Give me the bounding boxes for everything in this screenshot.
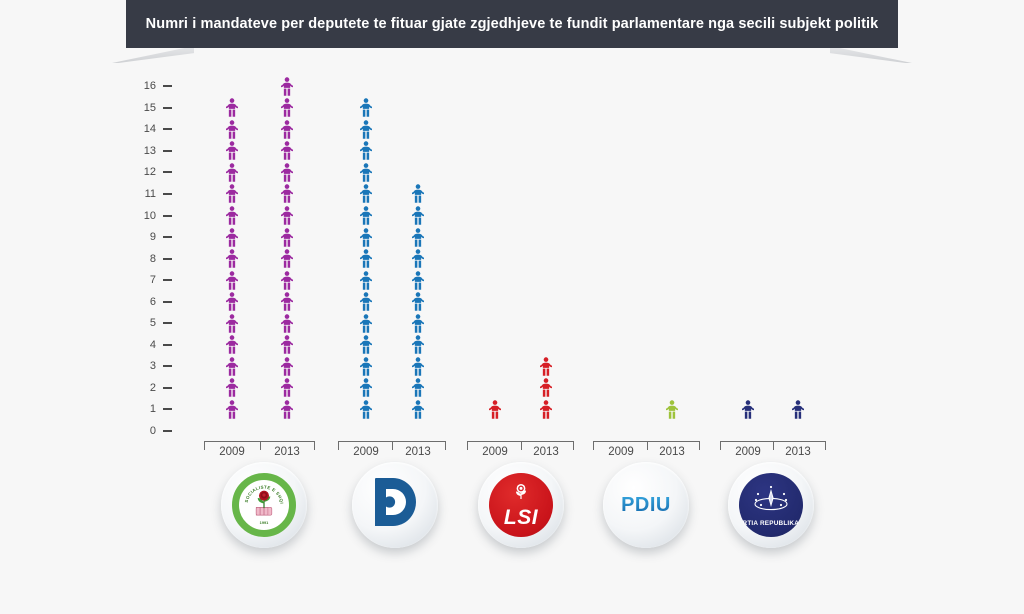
y-axis-label: 4 <box>116 339 156 351</box>
figure-column <box>785 0 811 460</box>
y-axis-tick-row: 6 <box>0 296 190 308</box>
person-pictogram <box>358 271 374 290</box>
person-pictogram <box>664 400 680 419</box>
y-axis-tick-row: 10 <box>0 210 190 222</box>
bracket-year-label: 2009 <box>595 446 647 458</box>
figure-column <box>405 0 431 460</box>
year-bracket: 20092013 <box>204 441 315 463</box>
ps-rose-fist-icon: PARTIA SOCIALISTE E SHQIPERISE1991 <box>232 473 296 537</box>
y-axis-label: 0 <box>116 425 156 437</box>
person-pictogram <box>279 400 295 419</box>
y-axis-tick-row: 11 <box>0 188 190 200</box>
person-pictogram <box>538 400 554 419</box>
y-axis-label: 7 <box>116 274 156 286</box>
infographic-stage: Numri i mandateve per deputete te fituar… <box>0 0 1024 614</box>
y-axis-tick <box>163 85 172 87</box>
bracket-year-label: 2009 <box>469 446 521 458</box>
party-logo-pr[interactable]: PARTIA REPUBLIKANE <box>728 462 814 548</box>
y-axis-tick <box>163 301 172 303</box>
pd-monogram-icon <box>369 474 421 537</box>
logo-inner: PARTIA SOCIALISTE E SHQIPERISE1991 <box>231 472 297 538</box>
figure-column <box>608 0 634 460</box>
person-pictogram <box>279 314 295 333</box>
svg-text:1991: 1991 <box>260 520 269 525</box>
person-pictogram <box>224 184 240 203</box>
y-axis-tick <box>163 365 172 367</box>
person-pictogram <box>224 98 240 117</box>
person-pictogram <box>358 249 374 268</box>
person-pictogram <box>410 184 426 203</box>
person-pictogram <box>224 120 240 139</box>
bracket-tick <box>338 441 339 450</box>
figure-column <box>353 0 379 460</box>
person-pictogram <box>358 141 374 160</box>
person-pictogram <box>224 292 240 311</box>
bracket-tick <box>720 441 721 450</box>
person-pictogram <box>224 314 240 333</box>
y-axis-tick <box>163 128 172 130</box>
person-pictogram <box>410 249 426 268</box>
bracket-year-label: 2009 <box>722 446 774 458</box>
figure-column <box>735 0 761 460</box>
person-pictogram <box>279 184 295 203</box>
logo-inner: PARTIA REPUBLIKANE <box>738 472 804 538</box>
y-axis-tick-row: 2 <box>0 382 190 394</box>
person-pictogram <box>410 206 426 225</box>
person-pictogram <box>410 292 426 311</box>
person-pictogram <box>279 378 295 397</box>
pr-text: PARTIA REPUBLIKANE <box>738 520 804 527</box>
figure-column <box>659 0 685 460</box>
bracket-tick <box>467 441 468 450</box>
person-pictogram <box>410 357 426 376</box>
person-pictogram <box>224 271 240 290</box>
bracket-year-label: 2013 <box>261 446 313 458</box>
bracket-tick <box>699 441 700 450</box>
lsi-rose-icon: LSI <box>489 473 553 537</box>
y-axis-label: 9 <box>116 231 156 243</box>
year-bracket: 20092013 <box>467 441 574 463</box>
bracket-year-label: 2009 <box>340 446 392 458</box>
bracket-year-label: 2013 <box>646 446 698 458</box>
y-axis-tick <box>163 171 172 173</box>
person-pictogram <box>279 77 295 96</box>
y-axis-tick <box>163 279 172 281</box>
bracket-year-label: 2013 <box>392 446 444 458</box>
bracket-tick <box>573 441 574 450</box>
person-pictogram <box>224 249 240 268</box>
person-pictogram <box>279 357 295 376</box>
person-pictogram <box>538 378 554 397</box>
year-bracket: 20092013 <box>720 441 826 463</box>
logo-inner <box>362 472 428 538</box>
y-axis-tick <box>163 215 172 217</box>
bracket-tick <box>204 441 205 450</box>
torch-stars-icon <box>751 485 791 520</box>
logo-inner: LSI <box>488 472 554 538</box>
person-pictogram <box>358 378 374 397</box>
y-axis-label: 1 <box>116 403 156 415</box>
logo-inner: PDIU <box>613 472 679 538</box>
y-axis-label: 13 <box>116 145 156 157</box>
y-axis-label: 11 <box>116 188 156 200</box>
y-axis-tick-row: 13 <box>0 145 190 157</box>
y-axis-label: 10 <box>116 210 156 222</box>
y-axis-tick <box>163 344 172 346</box>
y-axis-tick <box>163 193 172 195</box>
person-pictogram <box>279 292 295 311</box>
person-pictogram <box>279 120 295 139</box>
person-pictogram <box>410 378 426 397</box>
person-pictogram <box>224 335 240 354</box>
y-axis-tick <box>163 258 172 260</box>
bracket-tick <box>445 441 446 450</box>
y-axis-tick-row: 14 <box>0 123 190 135</box>
person-pictogram <box>279 335 295 354</box>
person-pictogram <box>279 141 295 160</box>
person-pictogram <box>279 249 295 268</box>
y-axis-tick <box>163 236 172 238</box>
person-pictogram <box>224 206 240 225</box>
year-bracket: 20092013 <box>593 441 700 463</box>
y-axis-tick-row: 1 <box>0 403 190 415</box>
y-axis-tick <box>163 150 172 152</box>
y-axis-tick-row: 8 <box>0 253 190 265</box>
person-pictogram <box>487 400 503 419</box>
y-axis-label: 5 <box>116 317 156 329</box>
bracket-tick <box>825 441 826 450</box>
pr-emblem-icon: PARTIA REPUBLIKANE <box>739 473 803 537</box>
y-axis-tick <box>163 107 172 109</box>
bracket-tick <box>593 441 594 450</box>
y-axis-tick-row: 7 <box>0 274 190 286</box>
y-axis-tick-row: 16 <box>0 80 190 92</box>
party-logo-ps[interactable]: PARTIA SOCIALISTE E SHQIPERISE1991 <box>221 462 307 548</box>
y-axis-tick <box>163 387 172 389</box>
y-axis-tick-row: 12 <box>0 166 190 178</box>
person-pictogram <box>224 141 240 160</box>
y-axis-label: 15 <box>116 102 156 114</box>
bracket-year-label: 2009 <box>206 446 258 458</box>
y-axis-label: 3 <box>116 360 156 372</box>
y-axis-label: 2 <box>116 382 156 394</box>
person-pictogram <box>224 378 240 397</box>
person-pictogram <box>358 98 374 117</box>
person-pictogram <box>410 335 426 354</box>
bracket-tick <box>314 441 315 450</box>
bracket-year-label: 2013 <box>772 446 824 458</box>
person-pictogram <box>279 98 295 117</box>
party-logo-pdiu[interactable]: PDIU <box>603 462 689 548</box>
figure-column <box>482 0 508 460</box>
person-pictogram <box>358 292 374 311</box>
y-axis-tick <box>163 408 172 410</box>
pdiu-text: PDIU <box>621 494 671 517</box>
person-pictogram <box>358 184 374 203</box>
y-axis-label: 14 <box>116 123 156 135</box>
bracket-year-label: 2013 <box>520 446 572 458</box>
person-pictogram <box>740 400 756 419</box>
person-pictogram <box>224 357 240 376</box>
y-axis-tick <box>163 322 172 324</box>
person-pictogram <box>358 400 374 419</box>
rose-icon <box>510 483 532 506</box>
person-pictogram <box>224 163 240 182</box>
person-pictogram <box>410 271 426 290</box>
lsi-text: LSI <box>504 507 538 528</box>
party-logo-pd[interactable] <box>352 462 438 548</box>
person-pictogram <box>224 400 240 419</box>
person-pictogram <box>790 400 806 419</box>
pictogram-chart: 012345678910111213141516 200920132009201… <box>0 0 1024 614</box>
y-axis-tick <box>163 430 172 432</box>
person-pictogram <box>358 314 374 333</box>
person-pictogram <box>358 206 374 225</box>
person-pictogram <box>279 271 295 290</box>
person-pictogram <box>410 228 426 247</box>
person-pictogram <box>410 400 426 419</box>
person-pictogram <box>279 228 295 247</box>
person-pictogram <box>279 206 295 225</box>
y-axis-label: 6 <box>116 296 156 308</box>
figure-column <box>533 0 559 460</box>
y-axis-tick-row: 15 <box>0 102 190 114</box>
figure-column <box>219 0 245 460</box>
y-axis-tick-row: 3 <box>0 360 190 372</box>
person-pictogram <box>358 163 374 182</box>
year-bracket: 20092013 <box>338 441 446 463</box>
y-axis-label: 8 <box>116 253 156 265</box>
person-pictogram <box>358 120 374 139</box>
y-axis-tick-row: 4 <box>0 339 190 351</box>
party-logo-lsi[interactable]: LSI <box>478 462 564 548</box>
y-axis-tick-row: 9 <box>0 231 190 243</box>
person-pictogram <box>224 228 240 247</box>
y-axis-label: 16 <box>116 80 156 92</box>
person-pictogram <box>279 163 295 182</box>
person-pictogram <box>358 335 374 354</box>
person-pictogram <box>410 314 426 333</box>
y-axis-tick-row: 0 <box>0 425 190 437</box>
person-pictogram <box>358 357 374 376</box>
y-axis-tick-row: 5 <box>0 317 190 329</box>
figure-column <box>274 0 300 460</box>
person-pictogram <box>538 357 554 376</box>
person-pictogram <box>358 228 374 247</box>
y-axis-label: 12 <box>116 166 156 178</box>
